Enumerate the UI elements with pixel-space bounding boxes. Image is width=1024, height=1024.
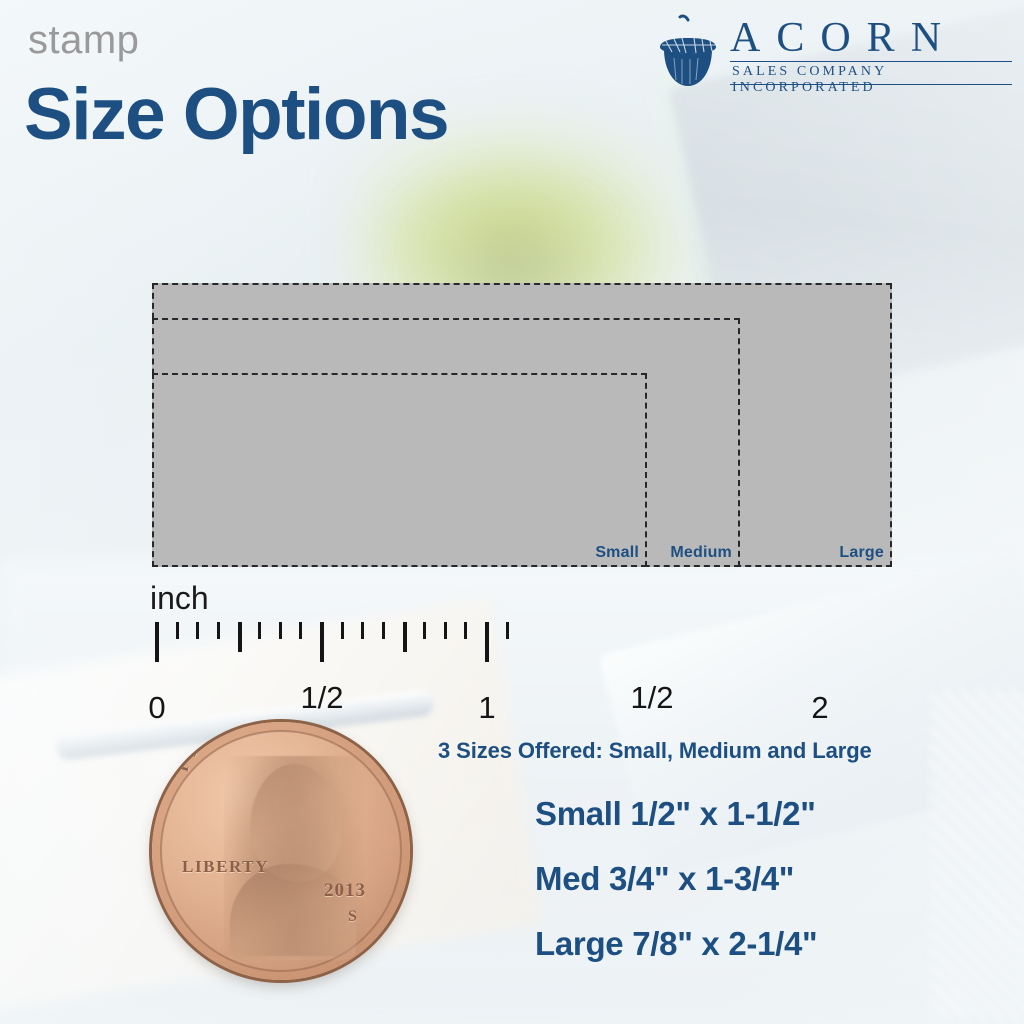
- ruler-number-1: 1/2: [300, 680, 343, 716]
- ruler-tick-minor: [423, 622, 426, 639]
- ruler-tick-half: [403, 622, 407, 652]
- ruler-tick-minor: [196, 622, 199, 639]
- sizes-offered-heading: 3 Sizes Offered: Small, Medium and Large: [438, 738, 872, 764]
- lincoln-bust: [230, 864, 356, 960]
- penny-motto: IN GOD WE TRUST: [152, 736, 410, 836]
- ruler-tick-minor: [341, 622, 344, 639]
- penny-year: 2013: [324, 880, 366, 902]
- ruler-tick-half: [238, 622, 242, 652]
- ruler-tick-minor: [217, 622, 220, 639]
- ruler-number-0: 0: [148, 690, 165, 726]
- ruler-tick-minor: [258, 622, 261, 639]
- penny-coin: IN GOD WE TRUST LIBERTY 2013 S: [152, 722, 410, 980]
- ruler-tick-minor: [279, 622, 282, 639]
- ruler-number-3: 1/2: [630, 680, 673, 716]
- ruler-tick-minor: [464, 622, 467, 639]
- size-line-small: Small 1/2" x 1-1/2": [535, 795, 816, 833]
- ruler-tick-minor: [382, 622, 385, 639]
- ruler-tick-minor: [176, 622, 179, 639]
- size-line-medium: Med 3/4" x 1-3/4": [535, 860, 794, 898]
- penny-liberty: LIBERTY: [182, 857, 269, 877]
- ruler-tick-inch: [155, 622, 159, 662]
- ruler-tick-minor: [506, 622, 509, 639]
- ruler-number-2: 1: [478, 690, 495, 726]
- penny-mint-mark: S: [348, 908, 357, 926]
- ruler-tick-inch: [320, 622, 324, 662]
- ruler-number-4: 2: [811, 690, 828, 726]
- ruler-tick-minor: [444, 622, 447, 639]
- ruler-unit-label: inch: [150, 580, 209, 617]
- ruler-tick-minor: [361, 622, 364, 639]
- size-line-large: Large 7/8" x 2-1/4": [535, 925, 817, 963]
- ruler-tick-inch: [485, 622, 489, 662]
- ruler-tick-minor: [299, 622, 302, 639]
